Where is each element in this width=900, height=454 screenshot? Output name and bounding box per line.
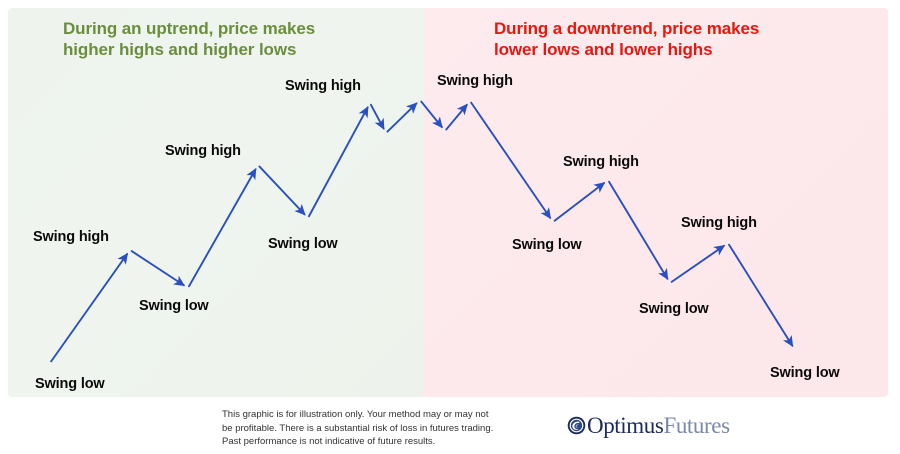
logo-word-futures: Futures — [663, 414, 729, 437]
swing-low-label: Swing low — [139, 298, 209, 314]
swing-low-label: Swing low — [770, 365, 840, 381]
infographic-canvas: During an uptrend, price makes higher hi… — [0, 0, 900, 454]
swing-high-label: Swing high — [437, 73, 513, 89]
swing-low-label: Swing low — [639, 301, 709, 317]
uptrend-panel — [8, 8, 424, 397]
swing-high-label: Swing high — [33, 229, 109, 245]
uptrend-heading: During an uptrend, price makes higher hi… — [63, 18, 315, 60]
downtrend-heading: During a downtrend, price makes lower lo… — [494, 18, 759, 60]
swing-high-label: Swing high — [165, 143, 241, 159]
swing-high-label: Swing high — [563, 154, 639, 170]
optimus-futures-logo: Optimus Futures — [567, 411, 730, 439]
downtrend-panel — [424, 8, 888, 397]
disclaimer-text: This graphic is for illustration only. Y… — [222, 408, 494, 449]
swing-low-label: Swing low — [35, 376, 105, 392]
swing-high-label: Swing high — [681, 215, 757, 231]
logo-word-optimus: Optimus — [587, 414, 663, 437]
swing-high-label: Swing high — [285, 78, 361, 94]
optimus-circle-emblem-icon — [567, 416, 586, 435]
swing-low-label: Swing low — [512, 237, 582, 253]
swing-low-label: Swing low — [268, 236, 338, 252]
